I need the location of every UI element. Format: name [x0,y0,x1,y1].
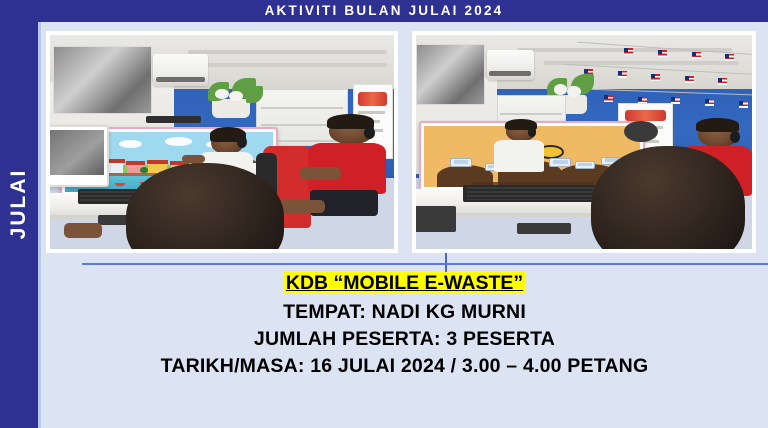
child-seated-back [490,121,557,185]
bare-foot [64,223,102,238]
plant-flower [215,89,229,100]
page-title: AKTIVITI BULAN JULAI 2024 [0,0,768,22]
flag-icon [624,48,633,55]
photo-left [46,31,398,253]
child-seated-right [298,116,394,232]
flag-icon [739,101,748,108]
caption-title: KDB “MOBILE E-WASTE” [284,272,525,294]
flag-icon [658,50,667,57]
flag-icon [725,54,734,61]
caption-datetime: TARIKH/MASA: 16 JULAI 2024 / 3.00 – 4.00… [41,354,768,379]
plant-flower [229,91,243,102]
flag-icon [692,52,701,59]
flag-icon [718,78,727,85]
ceiling-strip [188,50,388,54]
wall-poster [416,44,485,106]
flag-icon [651,74,660,81]
flag-icon [618,71,627,78]
flag-icon [705,99,714,106]
caption-place: TEMPAT: NADI KG MURNI [41,300,768,325]
ceiling-strip [208,63,387,67]
plant-pot [212,99,250,118]
device-box [517,223,571,234]
flag-icon [685,76,694,83]
device-box [416,206,456,232]
webcam-icon [624,121,658,142]
flag-icon [604,95,613,102]
photo-right [412,31,756,253]
slide-root: AKTIVITI BULAN JULAI 2024 JULAI [0,0,768,428]
air-conditioner [487,50,534,80]
air-conditioner [153,54,208,86]
caption-separator-rule [82,263,768,265]
wall-poster [53,46,151,114]
caption-block: KDB “MOBILE E-WASTE” TEMPAT: NADI KG MUR… [41,272,768,428]
caption-participants: JUMLAH PESERTA: 3 PESERTA [41,327,768,352]
plant-flower [567,86,580,97]
child-foreground-head [591,146,746,249]
sidebar-month-label: JULAI [0,89,38,319]
monitor-secondary [50,125,109,187]
keyboard [463,185,604,202]
soundbar [146,116,201,122]
plant-flower [554,84,567,95]
